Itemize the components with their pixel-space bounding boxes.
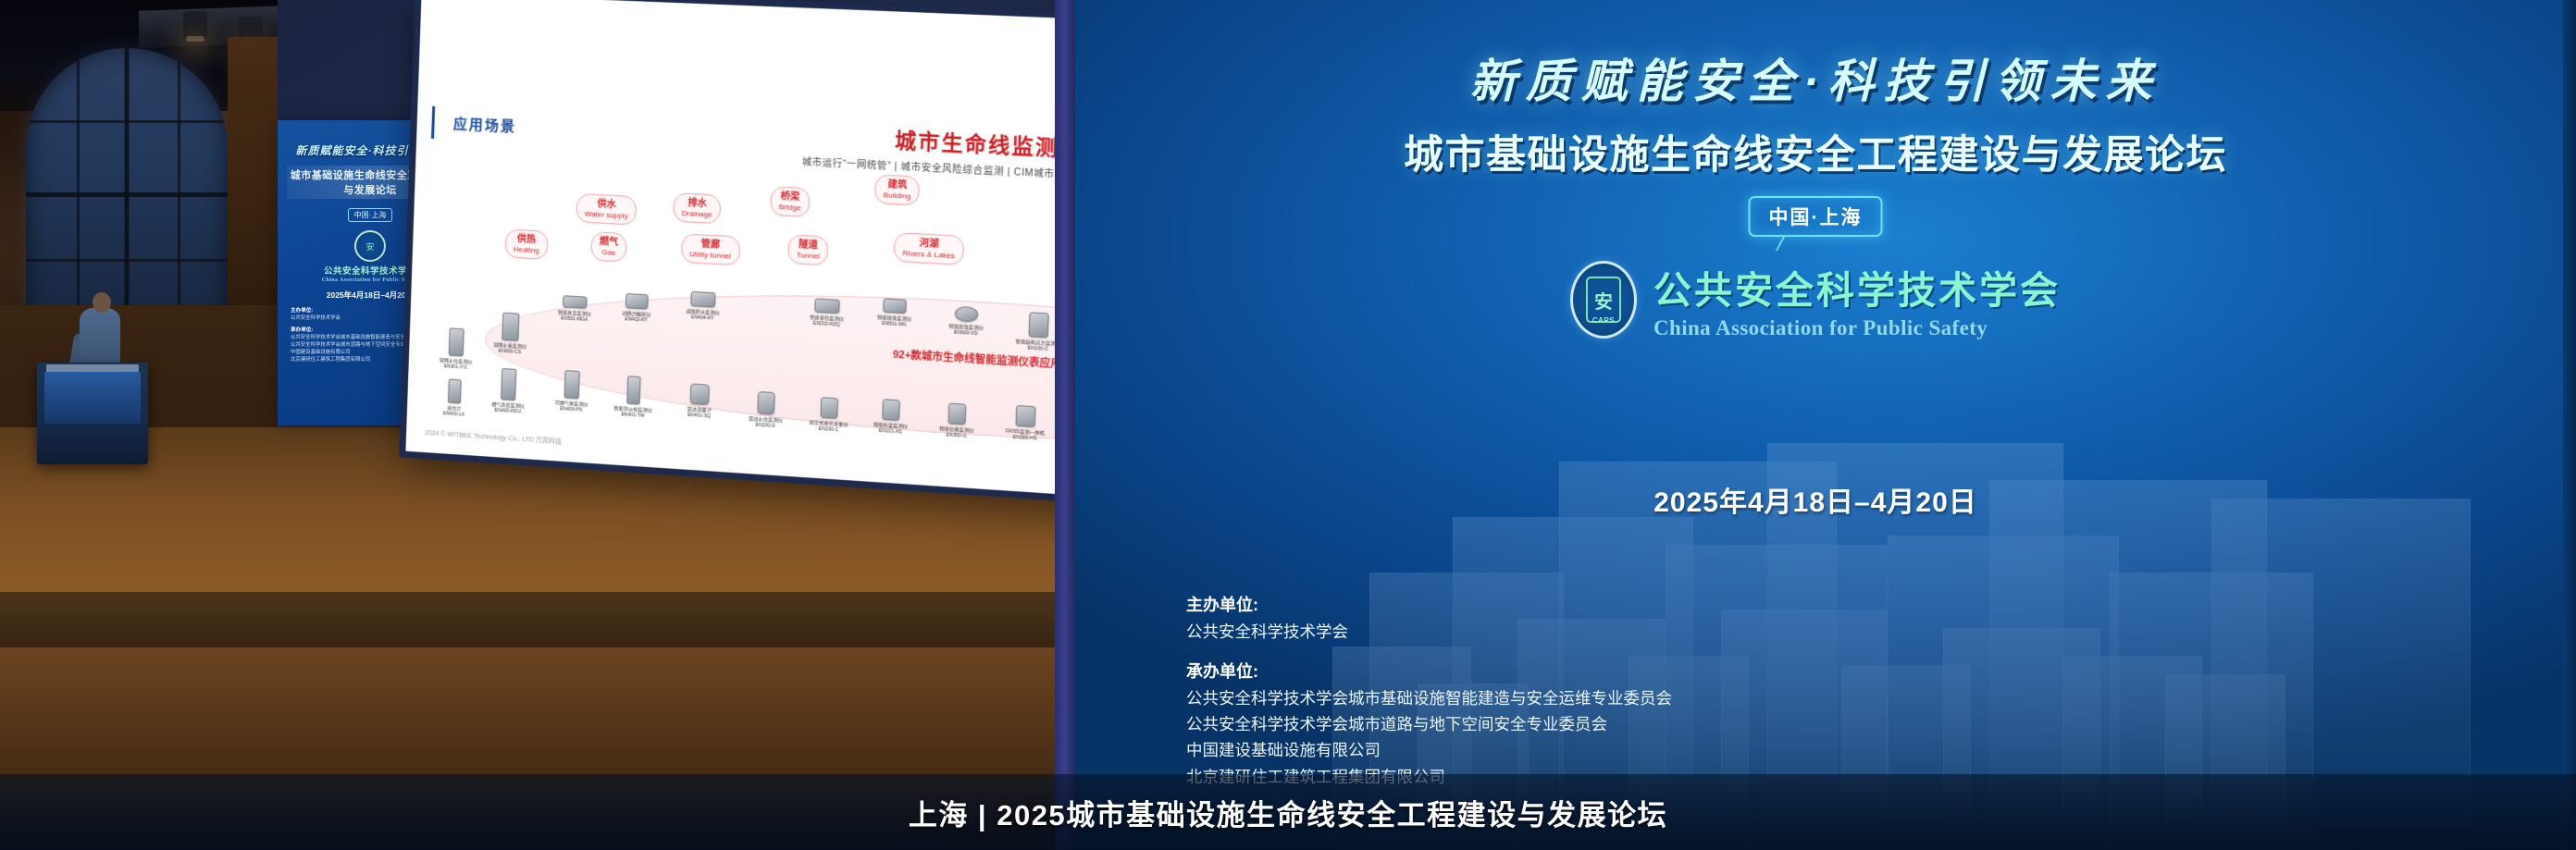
device-thumbnail-icon — [821, 397, 838, 419]
slide-bubble-en: Drainage — [681, 208, 712, 218]
device-thumbnail-icon — [882, 399, 900, 421]
slide-bubble-cn: 隧道 — [797, 240, 820, 252]
slide-bubble: 建筑Building — [874, 174, 921, 205]
caps-seal-icon: 安 CAPS — [1570, 261, 1637, 339]
slide-bubble: 供热Heating — [504, 228, 548, 259]
podium-monitor — [44, 372, 141, 424]
slide-footer: 2024 © WITBEE Technology Co., LTD 万宾科技 — [425, 428, 562, 447]
event-backdrop-panel: 新质赋能安全·科技引领未来 城市基础设施生命线安全工程建设与发展论坛 中国·上海… — [1055, 0, 2576, 850]
backdrop-coorg-label: 承办单位: — [1186, 659, 1672, 685]
device-thumbnail-icon — [955, 306, 979, 323]
slide-bubble-cn: 桥梁 — [779, 191, 801, 203]
slide-device-item: 智能位移监测仪EN300-G — [926, 401, 988, 441]
backdrop-coorg-1: 公共安全科学技术学会城市基础设施智能建造与安全运维专业委员会 — [1186, 685, 1672, 711]
slide-device-item: 智能消火栓监测仪EN401-TW — [603, 375, 663, 421]
slide-bubble-cn: 供热 — [514, 234, 539, 246]
slide-bubble: 隧道Tunnel — [787, 234, 829, 265]
device-thumbnail-icon — [501, 368, 516, 400]
speaker-head — [93, 292, 111, 313]
device-thumbnail-icon — [449, 327, 464, 356]
bottom-caption-bar: 上海 | 2025城市基础设施生命线安全工程建设与发展论坛 — [0, 774, 2576, 850]
backdrop-forum-title: 城市基础设施生命线安全工程建设与发展论坛 — [1404, 123, 2227, 180]
slide-device-item: 液位计EN400-LX — [426, 377, 484, 419]
standee-coorg-3: 中国建设基础设施有限公司 — [291, 350, 351, 355]
slide-bubble: 排水Drainage — [673, 192, 722, 224]
slide-bubble-en: Rivers & Lakes — [902, 248, 955, 259]
backdrop-location-chip: 中国·上海 — [1749, 196, 1883, 237]
caption-text: 上海 | 2025城市基础设施生命线安全工程建设与发展论坛 — [909, 792, 1667, 833]
slide-bubble: 河湖Rivers & Lakes — [894, 232, 965, 265]
backdrop-organizers: 主办单位: 公共安全科学技术学会 承办单位: 公共安全科学技术学会城市基础设施智… — [1186, 592, 1672, 803]
slide-bubble-en: Gas — [599, 247, 618, 256]
device-thumbnail-icon — [1029, 312, 1049, 338]
backdrop-host-name: 公共安全科学技术学会 — [1186, 619, 1672, 645]
slide-device-item: 道路积水监测仪EN404-RT — [673, 290, 733, 323]
podium-nameplate — [46, 364, 139, 372]
backdrop-date: 2025年4月18日–4月20日 — [1653, 479, 1977, 520]
slide-scene-tag: 应用场景 — [431, 106, 536, 143]
stage-light — [183, 11, 207, 39]
podium — [37, 363, 148, 464]
slide-device-item: 雷达流量计EN401-SQ — [670, 382, 730, 421]
slide-device-item: 管网水位监测仪EN301-IYZ — [427, 326, 485, 372]
slide-bubble-en: Water supply — [585, 209, 628, 220]
standee-coorg-4: 北京建研住工建筑工程集团有限公司 — [291, 357, 370, 363]
device-thumbnail-icon — [690, 291, 715, 308]
device-thumbnail-icon — [448, 379, 462, 404]
caps-seal-text: CAPS — [1573, 316, 1634, 325]
slide-bubble-en: Heating — [514, 244, 539, 254]
slide-bubble-cn: 建筑 — [884, 179, 911, 191]
device-thumbnail-icon — [625, 293, 649, 310]
slide-device-item: 固定式振弦采集仪EN200-C — [799, 396, 860, 435]
backdrop-coorg-2: 公共安全科学技术学会城市道路与地下空间安全专业委员会 — [1186, 711, 1672, 737]
backdrop-association-en: China Association for Public Safety — [1653, 316, 2061, 340]
slide-bubble: 桥梁Bridge — [770, 186, 811, 216]
standee-seal-glyph: 安 — [365, 240, 374, 253]
arched-window — [26, 48, 228, 326]
slide-bubble: 供水Water supply — [576, 193, 637, 225]
device-thumbnail-icon — [563, 295, 588, 309]
device-thumbnail-icon — [690, 383, 710, 405]
slide-device-item: 智能腐蚀监测仪EN600-VD — [935, 305, 997, 339]
device-thumbnail-icon — [502, 313, 519, 341]
conference-photo-stage: 新质赋能安全·科技引领未来 城市基础设施生命线安全工程建设与发展论坛 中国·上海… — [0, 0, 2576, 850]
slide-device-item: 雷达水位监测仪EN200-D — [736, 390, 796, 431]
slide-bubble-en: Tunnel — [796, 251, 819, 261]
slide-device-item: 燃气浓度监测仪EN400-RDU — [479, 367, 539, 416]
standee-seal-icon: 安 — [354, 230, 386, 262]
slide-bubble-en: Utility tunnel — [689, 249, 731, 260]
slide-device-item: 智能桥梁监测仪EN101-AS — [861, 398, 922, 437]
slide-device-item: 智能倾角监测仪EN501-MG — [864, 297, 925, 329]
standee-location-chip: 中国·上海 — [348, 208, 393, 222]
standee-host-name: 公共安全科学技术学会 — [291, 315, 341, 321]
device-thumbnail-icon — [626, 376, 640, 404]
backdrop-host-label: 主办单位: — [1186, 592, 1672, 619]
slide-device-item: 窨井液位监测仪EN202-RZQ — [797, 297, 857, 329]
standee-coorg-2: 公共安全科学技术学会城市道路与地下空间安全专业委员会 — [291, 342, 420, 348]
device-thumbnail-icon — [757, 391, 774, 415]
backdrop-association: 安 CAPS 公共安全科学技术学会 China Association for … — [1570, 259, 2061, 340]
slide-bubble-cn: 燃气 — [600, 237, 619, 249]
slide-bubble: 管廊Utility tunnel — [681, 233, 740, 265]
slide-device-item: 可燃气体监测仪EN409-PS — [542, 369, 601, 415]
backdrop-coorg-3: 中国建设基础设施有限公司 — [1186, 737, 1672, 763]
slide-device-item: 智能井盖监测仪EN501-MGA — [545, 294, 604, 324]
slide-bubble: 燃气Gas — [590, 231, 627, 262]
backdrop-calligraphy: 新质赋能安全·科技引领未来 — [1470, 44, 2161, 111]
backdrop-association-cn: 公共安全科学技术学会 — [1653, 259, 2061, 314]
device-thumbnail-icon — [883, 298, 907, 314]
slide-device-item: 动静力触探仪EN402-RT — [607, 292, 666, 325]
device-thumbnail-icon — [1015, 405, 1035, 427]
device-thumbnail-icon — [564, 370, 580, 399]
device-thumbnail-icon — [948, 403, 967, 425]
slide-bubble-en: Building — [883, 191, 910, 201]
slide-bubble-en: Bridge — [779, 202, 801, 212]
slide-device-item: 管网水质监测仪EN600-CS — [481, 311, 540, 356]
slide-device-item: GNSS监测一体机EN300-HS — [995, 404, 1057, 444]
device-thumbnail-icon — [814, 298, 840, 314]
